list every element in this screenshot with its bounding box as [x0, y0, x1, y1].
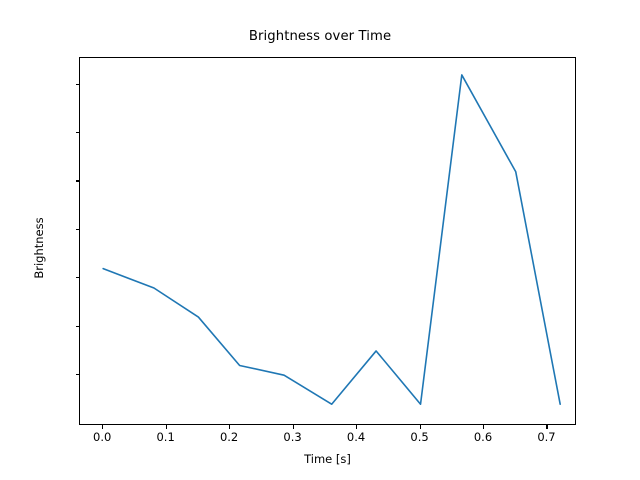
x-tick-mark — [293, 425, 294, 429]
x-tick-label: 0.2 — [220, 430, 238, 444]
y-axis-label: Brightness — [32, 148, 46, 348]
y-tick-mark — [76, 180, 80, 181]
x-tick-label: 0.7 — [537, 430, 555, 444]
y-tick-mark — [76, 84, 80, 85]
y-tick-mark — [76, 374, 80, 375]
brightness-line — [103, 75, 560, 404]
y-tick-mark — [76, 277, 80, 278]
x-tick-mark — [229, 425, 230, 429]
x-tick-label: 0.5 — [410, 430, 428, 444]
x-tick-label: 0.3 — [283, 430, 301, 444]
x-tick-label: 0.6 — [474, 430, 492, 444]
x-axis-label: Time [s] — [79, 452, 576, 466]
x-tick-label: 0.1 — [156, 430, 174, 444]
line-chart-svg — [80, 58, 577, 426]
x-tick-mark — [356, 425, 357, 429]
x-tick-label: 0.0 — [93, 430, 111, 444]
x-tick-mark — [102, 425, 103, 429]
y-tick-mark — [76, 132, 80, 133]
y-tick-mark — [76, 326, 80, 327]
x-tick-mark — [166, 425, 167, 429]
x-tick-mark — [483, 425, 484, 429]
y-tick-mark — [76, 229, 80, 230]
x-tick-mark — [420, 425, 421, 429]
chart-title: Brightness over Time — [0, 29, 640, 44]
x-tick-mark — [546, 425, 547, 429]
matplotlib-figure: Brightness over Time Brightness 10203040… — [0, 0, 640, 480]
plot-area — [79, 57, 576, 425]
x-tick-label: 0.4 — [347, 430, 365, 444]
